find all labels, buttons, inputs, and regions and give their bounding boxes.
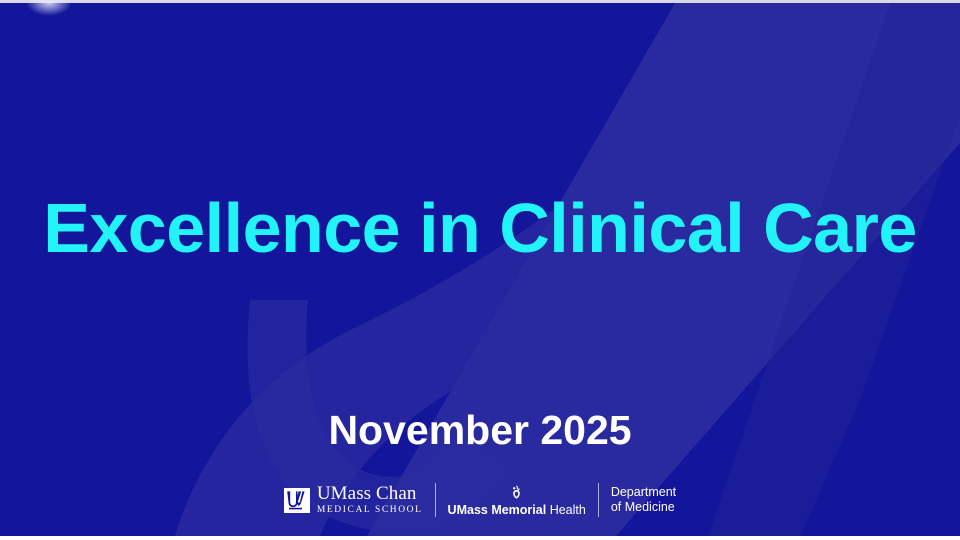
umass-chan-u-monogram-icon — [284, 488, 310, 513]
logo-lockup-bar: UMass Chan MEDICAL SCHOOL — [0, 476, 960, 524]
umass-chan-logo: UMass Chan MEDICAL SCHOOL — [284, 483, 423, 517]
logo-divider — [598, 483, 599, 517]
department-line-2: of Medicine — [611, 500, 676, 515]
department-of-medicine-logo: Department of Medicine — [611, 483, 676, 517]
page-title: Excellence in Clinical Care — [0, 189, 960, 267]
department-line-1: Department — [611, 485, 676, 500]
umass-chan-subtitle: MEDICAL SCHOOL — [317, 504, 423, 516]
slide-date: November 2025 — [0, 406, 960, 454]
umass-chan-wordmark: UMass Chan MEDICAL SCHOOL — [317, 484, 423, 516]
umass-memorial-health-word: Health — [550, 503, 586, 517]
logo-group: UMass Chan MEDICAL SCHOOL — [284, 477, 676, 523]
presentation-slide: Excellence in Clinical Care November 202… — [0, 0, 960, 540]
umass-chan-name: UMass Chan — [317, 484, 423, 503]
tulip-icon — [508, 484, 525, 501]
umass-memorial-name: UMass Memorial — [448, 503, 547, 517]
umass-memorial-health-logo: UMass Memorial Health — [448, 480, 586, 520]
logo-divider — [435, 483, 436, 517]
umass-memorial-wordmark: UMass Memorial Health — [448, 503, 586, 517]
